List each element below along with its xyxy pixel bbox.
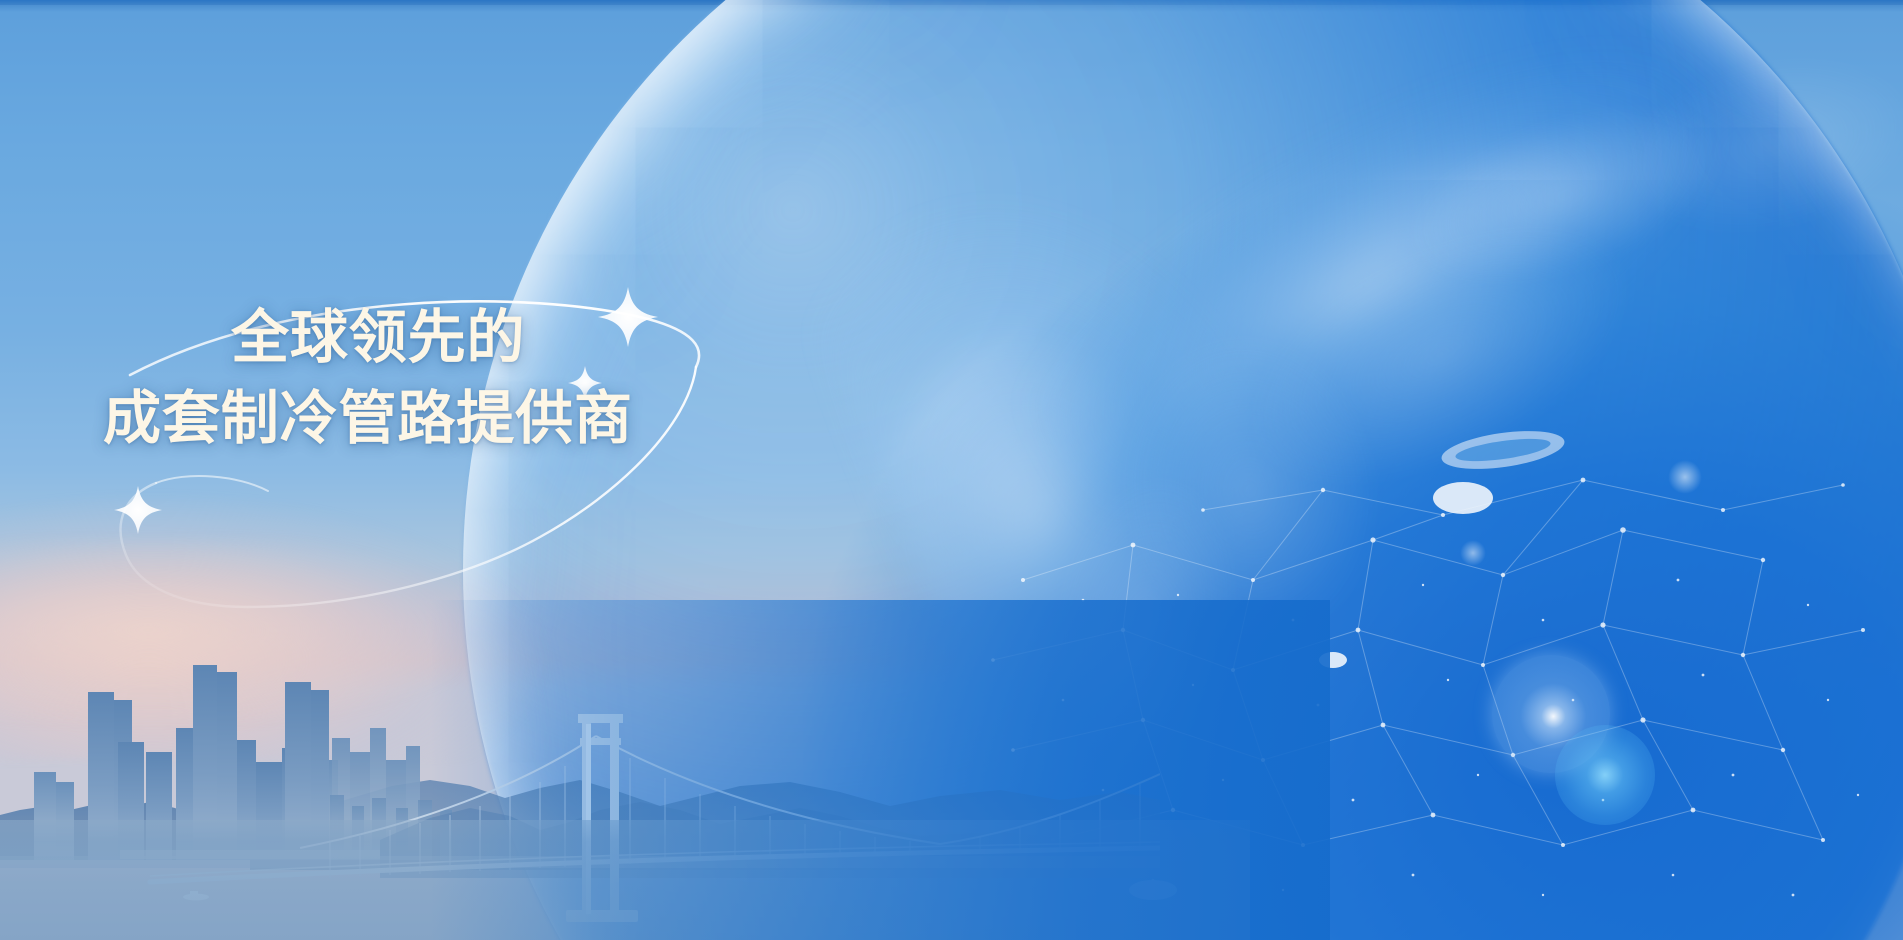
photo-blue-veil [430,600,1330,940]
headline-line-2: 成套制冷管路提供商 [103,381,633,456]
headline-line-1: 全球领先的 [231,300,633,375]
hero-headline: 全球领先的 成套制冷管路提供商 [103,300,633,457]
hero-banner: 全球领先的 成套制冷管路提供商 [0,0,1903,940]
